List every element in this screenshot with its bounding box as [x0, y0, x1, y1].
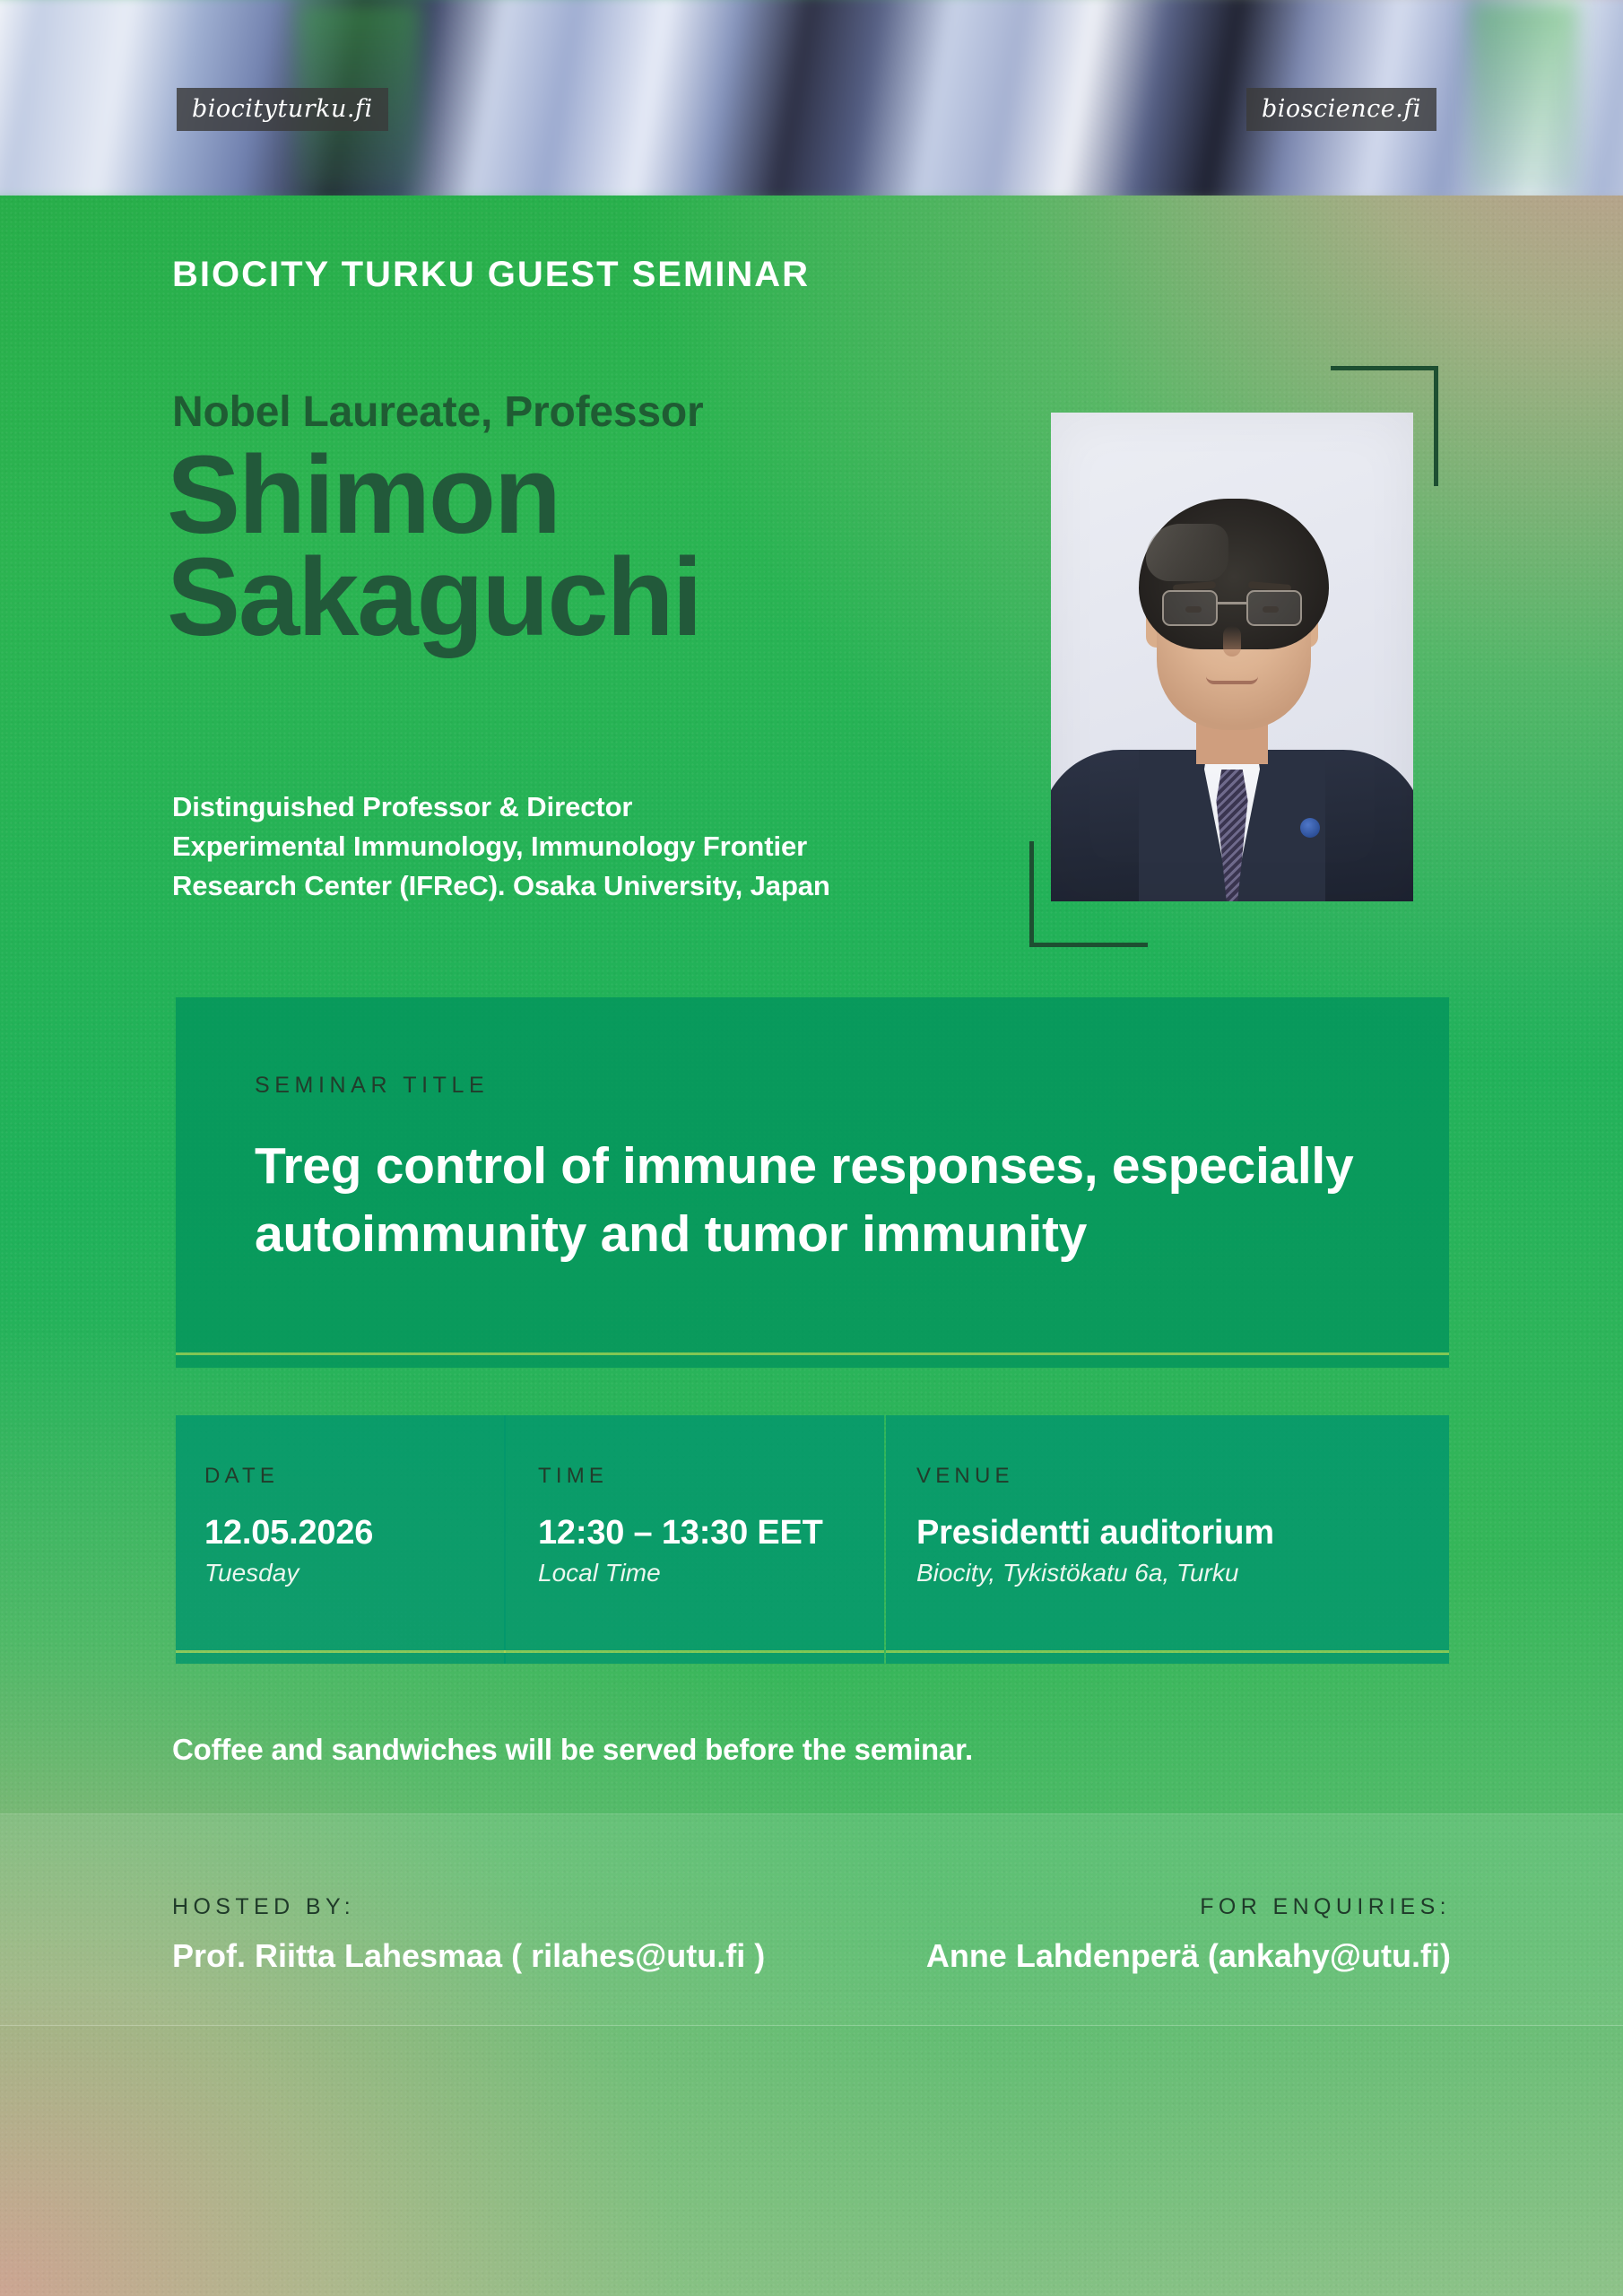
time-label: TIME: [538, 1464, 608, 1489]
seminar-title-card-footer-bar: [176, 1355, 1449, 1368]
seminar-poster: biocityturku.fi bioscience.fi BIOCITY TU…: [0, 0, 1623, 2296]
seminar-title-text: Treg control of immune responses, especi…: [255, 1132, 1411, 1269]
portrait-photo: [1051, 413, 1413, 901]
time-value: 12:30 – 13:30 EET: [538, 1514, 823, 1552]
date-label: DATE: [204, 1464, 279, 1489]
venue-box-footer-bar: [886, 1653, 1449, 1664]
seminar-title-line-2: autoimmunity and tumor immunity: [255, 1200, 1411, 1268]
banner-green-accent-right: [1471, 0, 1578, 196]
venue-value: Presidentti auditorium: [916, 1514, 1274, 1552]
hosted-by-contact[interactable]: Prof. Riitta Lahesmaa ( rilahes@utu.fi ): [172, 1937, 765, 1975]
footer-logo-row: UNIVERSITY OF TURKU Åbo Akademi Universi…: [0, 2027, 1623, 2296]
date-weekday: Tuesday: [204, 1559, 299, 1587]
refreshments-notice: Coffee and sandwiches will be served bef…: [172, 1733, 973, 1767]
venue-address: Biocity, Tykistökatu 6a, Turku: [916, 1559, 1238, 1587]
speaker-portrait: [1051, 413, 1413, 901]
date-box-footer-bar: [176, 1653, 506, 1664]
speaker-affiliation: Distinguished Professor & Director Exper…: [172, 787, 830, 906]
website-tag-biocityturku[interactable]: biocityturku.fi: [177, 88, 388, 131]
enquiries-label: FOR ENQUIRIES:: [1200, 1894, 1451, 1920]
affiliation-line-3: Research Center (IFReC). Osaka Universit…: [172, 866, 830, 906]
top-photo-banner: biocityturku.fi bioscience.fi: [0, 0, 1623, 196]
time-zone-note: Local Time: [538, 1559, 661, 1587]
event-kicker: BIOCITY TURKU GUEST SEMINAR: [172, 255, 810, 295]
time-box-footer-bar: [504, 1653, 884, 1664]
affiliation-line-1: Distinguished Professor & Director: [172, 787, 830, 827]
speaker-first-name: Shimon: [167, 445, 700, 547]
affiliation-line-2: Experimental Immunology, Immunology Fron…: [172, 827, 830, 866]
enquiries-contact[interactable]: Anne Lahdenperä (ankahy@utu.fi): [926, 1937, 1451, 1975]
seminar-title-line-1: Treg control of immune responses, especi…: [255, 1132, 1411, 1200]
venue-label: VENUE: [916, 1464, 1014, 1489]
portrait-vignette: [1051, 413, 1413, 901]
hosted-by-label: HOSTED BY:: [172, 1894, 355, 1920]
website-tag-bioscience[interactable]: bioscience.fi: [1246, 88, 1436, 131]
speaker-name: Shimon Sakaguchi: [167, 445, 700, 650]
seminar-title-eyebrow: SEMINAR TITLE: [255, 1073, 489, 1099]
speaker-pretitle: Nobel Laureate, Professor: [172, 387, 704, 437]
date-value: 12.05.2026: [204, 1514, 373, 1552]
speaker-last-name: Sakaguchi: [167, 547, 700, 649]
